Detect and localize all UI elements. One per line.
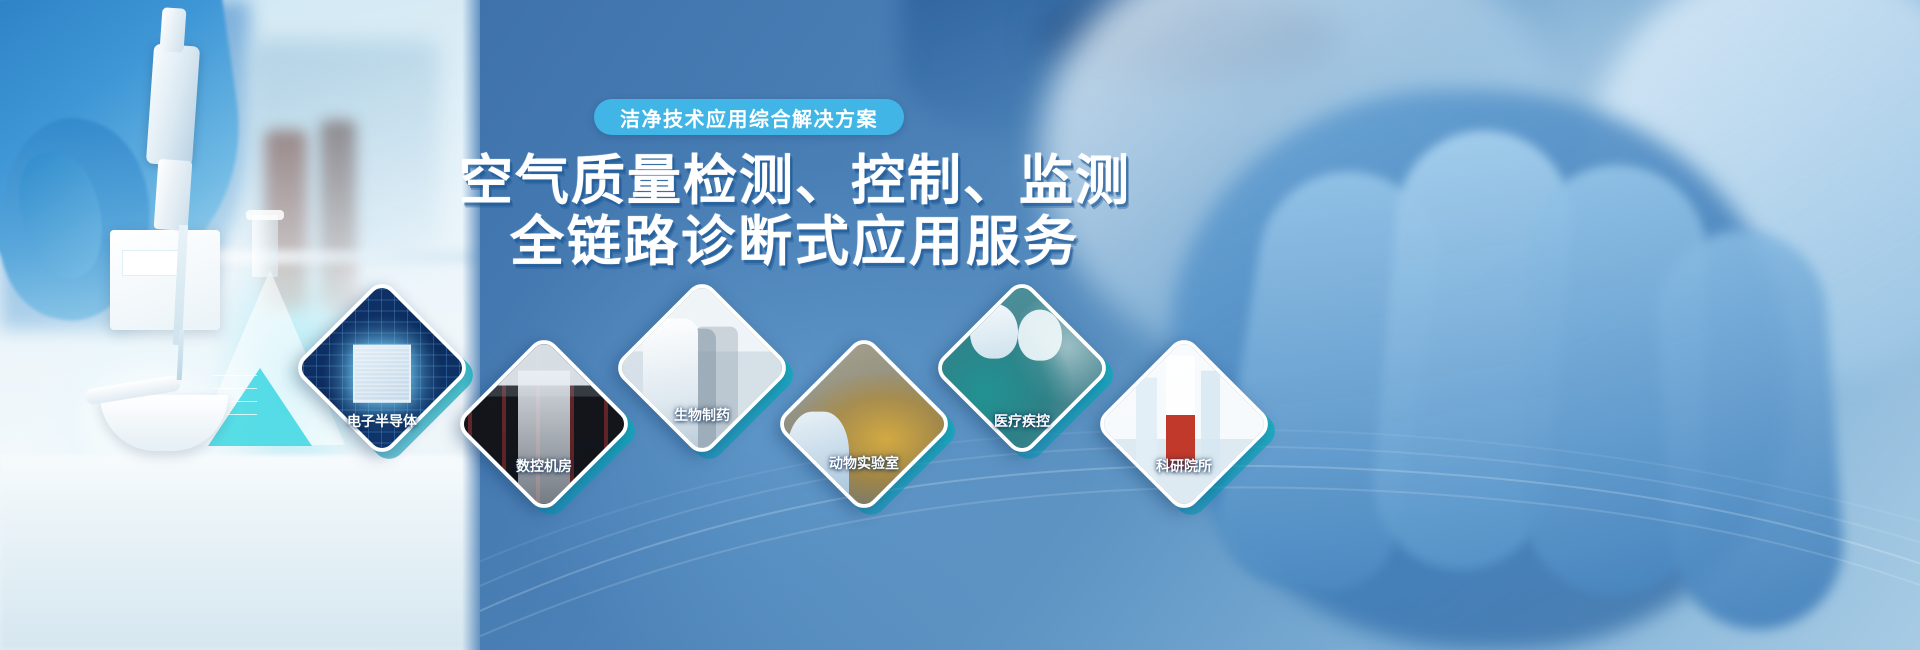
card-label-research-institute: 科研院所 xyxy=(1114,456,1254,476)
industry-card-server-room[interactable] xyxy=(453,333,634,514)
industry-card-row: 电子半导体 数控机房 生物制药 动物实验室 医疗疾控 科研院所 xyxy=(0,0,1920,650)
industry-card-animal-lab[interactable] xyxy=(773,333,954,514)
card-label-server-room: 数控机房 xyxy=(474,456,614,476)
industry-card-medical-cdc[interactable] xyxy=(931,277,1112,458)
industry-card-research-institute[interactable] xyxy=(1093,333,1274,514)
research-institute-icon xyxy=(1093,338,1274,515)
animal-lab-icon xyxy=(773,338,954,515)
card-label-semiconductor: 电子半导体 xyxy=(312,411,452,431)
card-label-medical-cdc: 医疗疾控 xyxy=(952,411,1092,431)
server-room-icon xyxy=(453,338,634,515)
card-label-biopharma: 生物制药 xyxy=(632,405,772,425)
industry-card-biopharma[interactable] xyxy=(611,277,792,458)
card-label-animal-lab: 动物实验室 xyxy=(794,453,934,473)
semiconductor-chip-icon xyxy=(291,282,472,459)
medical-cdc-icon xyxy=(931,282,1112,459)
industry-card-semiconductor[interactable] xyxy=(291,277,472,458)
biopharma-icon xyxy=(611,282,792,459)
hero-banner: 洁净技术应用综合解决方案 空气质量检测、控制、监测 全链路诊断式应用服务 电子半… xyxy=(0,0,1920,650)
